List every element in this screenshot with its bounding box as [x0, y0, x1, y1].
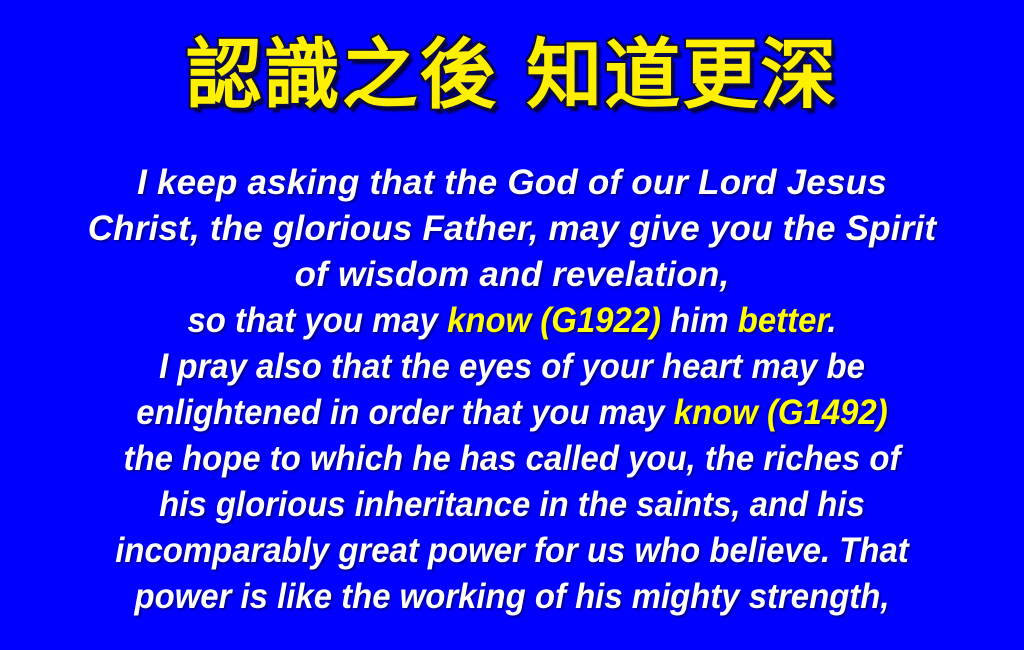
slide-title: 認識之後 知道更深 — [186, 34, 838, 116]
verse-text: him — [661, 301, 738, 340]
verse-text: his glorious inheritance in the saints, … — [159, 485, 865, 524]
verse-line: the hope to which he has called you, the… — [53, 436, 970, 482]
slide-title-block: 認識之後 知道更深 — [0, 34, 1024, 116]
verse-text: of wisdom and revelation, — [295, 255, 730, 294]
verse-text: power is like the working of his mighty … — [135, 577, 890, 616]
verse-line: power is like the working of his mighty … — [53, 574, 970, 620]
verse-text: I pray also that the eyes of your heart … — [159, 347, 865, 386]
verse-text: so that you may — [187, 301, 447, 340]
verse-line: of wisdom and revelation, — [24, 252, 1000, 298]
verse-text: the hope to which he has called you, the… — [124, 439, 901, 478]
presentation-slide: 認識之後 知道更深 I keep asking that the God of … — [0, 0, 1024, 650]
scripture-body: I keep asking that the God of our Lord J… — [24, 160, 1000, 620]
verse-text: incomparably great power for us who beli… — [115, 531, 908, 570]
verse-line: his glorious inheritance in the saints, … — [53, 482, 970, 528]
verse-line: Christ, the glorious Father, may give yo… — [24, 206, 1000, 252]
verse-line: enlightened in order that you may know (… — [53, 390, 970, 436]
verse-line: I pray also that the eyes of your heart … — [53, 344, 970, 390]
verse-line: incomparably great power for us who beli… — [53, 528, 970, 574]
verse-text: . — [827, 301, 836, 340]
verse-text: enlightened in order that you may — [136, 393, 673, 432]
verse-text: I keep asking that the God of our Lord J… — [137, 163, 887, 202]
verse-line: so that you may know (G1922) him better. — [53, 298, 970, 344]
verse-text: Christ, the glorious Father, may give yo… — [88, 209, 937, 248]
verse-line: I keep asking that the God of our Lord J… — [24, 160, 1000, 206]
highlighted-term: better — [738, 301, 828, 340]
highlighted-term: know (G1922) — [447, 301, 661, 340]
highlighted-term: know (G1492) — [674, 393, 888, 432]
